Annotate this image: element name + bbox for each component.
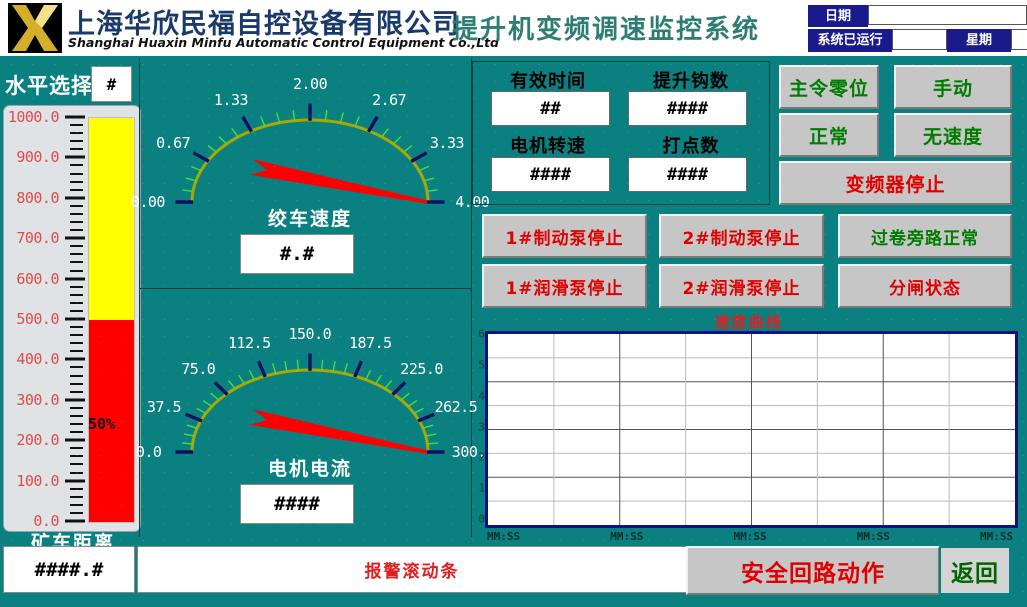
gauge-minor-tick <box>393 136 401 144</box>
gauge-winch-speed-value: #.# <box>240 234 354 274</box>
gauge-minor-tick <box>249 370 254 379</box>
readout-label-signal-count: 打点数 <box>621 132 761 158</box>
bargauge-minor-tick <box>70 488 83 490</box>
bargauge-minor-tick <box>70 350 83 352</box>
bargauge-minor-tick <box>70 310 83 312</box>
status-brake-pump-1[interactable]: 1#制动泵停止 <box>482 214 647 258</box>
weekday-field[interactable] <box>1011 29 1027 50</box>
gauge-minor-tick <box>228 380 235 388</box>
gauge-minor-tick <box>197 408 206 413</box>
button-no-speed[interactable]: 无速度 <box>894 113 1012 157</box>
divider-left <box>139 58 140 537</box>
bargauge-fill-upper <box>89 118 134 320</box>
gauge-tick-label: 187.5 <box>349 334 392 352</box>
bargauge-tick-label: 1000.0 <box>8 108 59 126</box>
bargauge-major-tick <box>65 318 85 321</box>
gauge-minor-tick <box>219 136 227 144</box>
bargauge-tick-label: 200.0 <box>16 431 59 449</box>
bargauge-minor-tick <box>70 253 83 255</box>
page-title: 提升机变频调速监控系统 <box>452 9 760 46</box>
button-back[interactable]: 返回 <box>939 546 1011 595</box>
bargauge-minor-tick <box>70 447 83 449</box>
gauge-minor-tick <box>376 375 382 384</box>
gauge-winch-speed-title: 绞车速度 <box>150 204 470 231</box>
gauge-minor-tick <box>191 167 201 171</box>
chart-title: 速度曲线 <box>472 311 1025 332</box>
bargauge-tick-label: 700.0 <box>16 229 59 247</box>
bargauge-major-tick <box>65 277 85 280</box>
bargauge-tick-label: 400.0 <box>16 350 59 368</box>
gauge-tick-label: 0.67 <box>156 134 190 152</box>
button-safety-circuit[interactable]: 安全回路动作 <box>686 546 940 595</box>
bargauge-minor-tick <box>70 472 83 474</box>
chart-x-tick-label: MM:SS <box>980 530 1013 543</box>
bargauge-percent-label: 50% <box>88 415 115 433</box>
gauge-minor-tick <box>325 110 326 121</box>
gauge-motor-current-value: #### <box>240 484 354 524</box>
bargauge-tick-label: 100.0 <box>16 472 59 490</box>
bargauge-major-tick <box>65 237 85 240</box>
chart-y-tick-label: 2 <box>473 451 485 464</box>
runtime-field[interactable] <box>892 29 947 50</box>
bargauge-tick-label: 500.0 <box>16 310 59 328</box>
chart-x-tick-label: MM:SS <box>487 530 520 543</box>
readout-label-motor-speed: 电机转速 <box>483 132 613 158</box>
gauge-minor-tick <box>426 434 436 436</box>
readout-value-hook-count: #### <box>628 91 747 126</box>
mine-car-distance-bargauge: 1000.0900.0800.0700.0600.0500.0400.0300.… <box>3 105 141 532</box>
status-overwind-bypass[interactable]: 过卷旁路正常 <box>838 214 1012 258</box>
app-header: 上海华欣民福自控设备有限公司 Shanghai Huaxin Minfu Aut… <box>0 0 1027 56</box>
gauge-tick-label: 2.67 <box>372 91 406 109</box>
gauge-major-tick <box>215 382 228 394</box>
bargauge-tick-label: 800.0 <box>16 189 59 207</box>
gauge-minor-tick <box>232 128 238 136</box>
gauge-minor-tick <box>187 425 197 428</box>
bargauge-minor-tick <box>70 132 83 134</box>
bargauge-minor-tick <box>70 164 83 166</box>
chart-y-tick-label: 3 <box>473 420 485 433</box>
bargauge-tick-label: 900.0 <box>16 148 59 166</box>
bargauge-minor-tick <box>70 245 83 247</box>
bargauge-minor-tick <box>70 221 83 223</box>
bargauge-minor-tick <box>70 270 83 272</box>
bargauge-minor-tick <box>70 512 83 514</box>
chart-y-tick-label: 1 <box>473 482 485 495</box>
readout-group: 有效时间 提升钩数 ## #### 电机转速 打点数 #### #### <box>472 61 770 205</box>
gauge-minor-tick <box>366 370 371 379</box>
bargauge-minor-tick <box>70 431 83 433</box>
chart-x-tick-label: MM:SS <box>857 530 890 543</box>
bargauge-minor-tick <box>70 205 83 207</box>
gauge-minor-tick <box>344 363 347 373</box>
gauge-major-tick <box>393 382 406 394</box>
bargauge-minor-tick <box>70 496 83 498</box>
status-brake-pump-2[interactable]: 2#制动泵停止 <box>659 214 824 258</box>
gauge-minor-tick <box>293 110 294 121</box>
runtime-label: 系统已运行 <box>808 29 892 52</box>
chart-plot <box>488 334 1015 525</box>
bargauge-major-tick <box>65 439 85 442</box>
gauge-minor-tick <box>355 116 359 126</box>
bargauge-minor-tick <box>70 463 83 465</box>
bargauge-minor-tick <box>70 415 83 417</box>
gauge-arc <box>192 120 428 202</box>
gauge-minor-tick <box>203 401 212 407</box>
gauge-major-tick <box>418 414 434 421</box>
readout-label-effective-time: 有效时间 <box>483 67 613 93</box>
chart-y-tick-label: 6 <box>473 328 485 341</box>
button-inverter-stop[interactable]: 变频器停止 <box>779 161 1012 205</box>
gauge-tick-label: 2.00 <box>293 75 327 93</box>
bargauge-minor-tick <box>70 375 83 377</box>
button-manual[interactable]: 手动 <box>894 65 1012 109</box>
gauge-major-tick <box>411 153 426 162</box>
gauge-minor-tick <box>401 393 409 400</box>
bargauge-minor-tick <box>70 189 83 191</box>
gauge-minor-tick <box>414 408 423 413</box>
status-breaker-open[interactable]: 分闸状态 <box>838 264 1012 308</box>
bargauge-tick-label: 600.0 <box>16 270 59 288</box>
gauge-minor-tick <box>211 393 219 400</box>
mine-car-distance-value: ####.# <box>3 546 135 593</box>
date-field[interactable] <box>868 5 1027 25</box>
bargauge-tick-label: 300.0 <box>16 391 59 409</box>
date-label: 日期 <box>808 5 868 27</box>
bargauge-minor-tick <box>70 261 83 263</box>
gauge-minor-tick <box>385 380 392 388</box>
readout-label-hook-count: 提升钩数 <box>621 67 761 93</box>
bargauge-minor-tick <box>70 334 83 336</box>
gauge-minor-tick <box>182 190 193 191</box>
chart-y-tick-label: 0 <box>473 513 485 526</box>
bargauge-minor-tick <box>70 302 83 304</box>
gauge-major-tick <box>259 361 266 377</box>
bargauge-minor-tick <box>70 391 83 393</box>
gauge-motor-current-title: 电机电流 <box>150 454 470 481</box>
bargauge-minor-tick <box>70 383 83 385</box>
bargauge-minor-tick <box>70 181 83 183</box>
gauge-minor-tick <box>427 443 438 444</box>
bargauge-minor-tick <box>70 229 83 231</box>
bargauge-major-tick <box>65 358 85 361</box>
bargauge-minor-tick <box>70 140 83 142</box>
bargauge-minor-tick <box>70 286 83 288</box>
status-lube-pump-1[interactable]: 1#润滑泵停止 <box>482 264 647 308</box>
gauge-minor-tick <box>322 360 323 371</box>
gauge-needle <box>250 159 427 203</box>
button-master-zero[interactable]: 主令零位 <box>779 65 879 109</box>
bargauge-minor-tick <box>70 455 83 457</box>
gauge-minor-tick <box>239 375 245 384</box>
gauge-minor-tick <box>184 434 194 436</box>
bargauge-minor-tick <box>70 342 83 344</box>
bargauge-major-tick <box>65 156 85 159</box>
gauge-winch-speed: 0.000.671.332.002.673.334.00 绞车速度 #.# <box>150 62 470 287</box>
gauge-minor-tick <box>423 425 433 428</box>
level-select-input[interactable]: # <box>91 66 132 102</box>
readout-value-signal-count: #### <box>628 157 747 192</box>
gauge-major-tick <box>368 117 377 132</box>
speed-curve-chart <box>485 331 1018 528</box>
gauge-minor-tick <box>427 190 438 191</box>
chart-y-tick-label: 5 <box>473 358 485 371</box>
bargauge-major-tick <box>65 398 85 401</box>
gauge-tick-label: 3.33 <box>430 134 464 152</box>
status-lube-pump-2[interactable]: 2#润滑泵停止 <box>659 264 824 308</box>
button-normal[interactable]: 正常 <box>779 113 879 157</box>
gauge-tick-label: 262.5 <box>435 398 478 416</box>
weekday-label: 星期 <box>947 29 1011 52</box>
chart-y-tick-label: 4 <box>473 389 485 402</box>
gauge-minor-tick <box>424 178 434 181</box>
readout-value-motor-speed: #### <box>491 157 610 192</box>
bargauge-minor-tick <box>70 294 83 296</box>
gauge-arc <box>192 370 428 452</box>
bargauge-minor-tick <box>70 148 83 150</box>
gauge-major-tick <box>243 117 252 132</box>
gauge-minor-tick <box>186 178 196 181</box>
level-select-label: 水平选择 <box>5 70 93 100</box>
bargauge-major-tick <box>65 196 85 199</box>
gauge-minor-tick <box>341 112 344 122</box>
gauge-minor-tick <box>333 361 335 371</box>
gauge-needle <box>250 409 427 453</box>
gauge-minor-tick <box>404 146 412 152</box>
bargauge-minor-tick <box>70 124 83 126</box>
gauge-motor-current: 0.037.575.0112.5150.0187.5225.0262.5300.… <box>150 312 470 537</box>
gauge-major-tick <box>186 414 202 421</box>
bargauge-major-tick <box>65 520 85 523</box>
bargauge-minor-tick <box>70 423 83 425</box>
gauge-minor-tick <box>208 146 216 152</box>
gauge-minor-tick <box>419 167 429 171</box>
gauge-minor-tick <box>277 112 280 122</box>
bargauge-scale: 1000.0900.0800.0700.0600.0500.0400.0300.… <box>9 117 87 521</box>
gauge-tick-label: 112.5 <box>228 334 271 352</box>
gauge-minor-tick <box>297 360 298 371</box>
gauge-minor-tick <box>182 443 193 444</box>
company-name-en: Shanghai Huaxin Minfu Automatic Control … <box>68 35 499 50</box>
gauge-tick-label: 37.5 <box>147 398 181 416</box>
gauge-minor-tick <box>408 401 417 407</box>
bargauge-minor-tick <box>70 326 83 328</box>
datetime-group: 日期 系统已运行 星期 <box>808 3 1023 53</box>
gauge-major-tick <box>355 361 362 377</box>
bargauge-minor-tick <box>70 504 83 506</box>
bargauge-major-tick <box>65 479 85 482</box>
company-logo-icon <box>8 3 62 53</box>
gauge-minor-tick <box>382 128 388 136</box>
chart-x-tick-label: MM:SS <box>610 530 643 543</box>
gauge-tick-label: 225.0 <box>400 360 443 378</box>
bargauge-minor-tick <box>70 213 83 215</box>
divider-gauges <box>139 288 472 289</box>
gauge-tick-label: 75.0 <box>181 360 215 378</box>
readout-value-effective-time: ## <box>491 91 610 126</box>
chart-x-tick-label: MM:SS <box>734 530 767 543</box>
bargauge-minor-tick <box>70 366 83 368</box>
gauge-minor-tick <box>285 361 287 371</box>
bargauge-major-tick <box>65 116 85 119</box>
hmi-screen: 上海华欣民福自控设备有限公司 Shanghai Huaxin Minfu Aut… <box>0 0 1027 607</box>
gauge-minor-tick <box>273 363 276 373</box>
gauge-tick-label: 1.33 <box>214 91 248 109</box>
gauge-tick-label: 150.0 <box>289 325 332 343</box>
bargauge-track <box>88 117 135 523</box>
gauge-minor-tick <box>261 116 265 126</box>
gauge-major-tick <box>194 153 209 162</box>
bargauge-minor-tick <box>70 173 83 175</box>
alarm-ticker: 报警滚动条 <box>137 546 687 593</box>
bargauge-minor-tick <box>70 407 83 409</box>
